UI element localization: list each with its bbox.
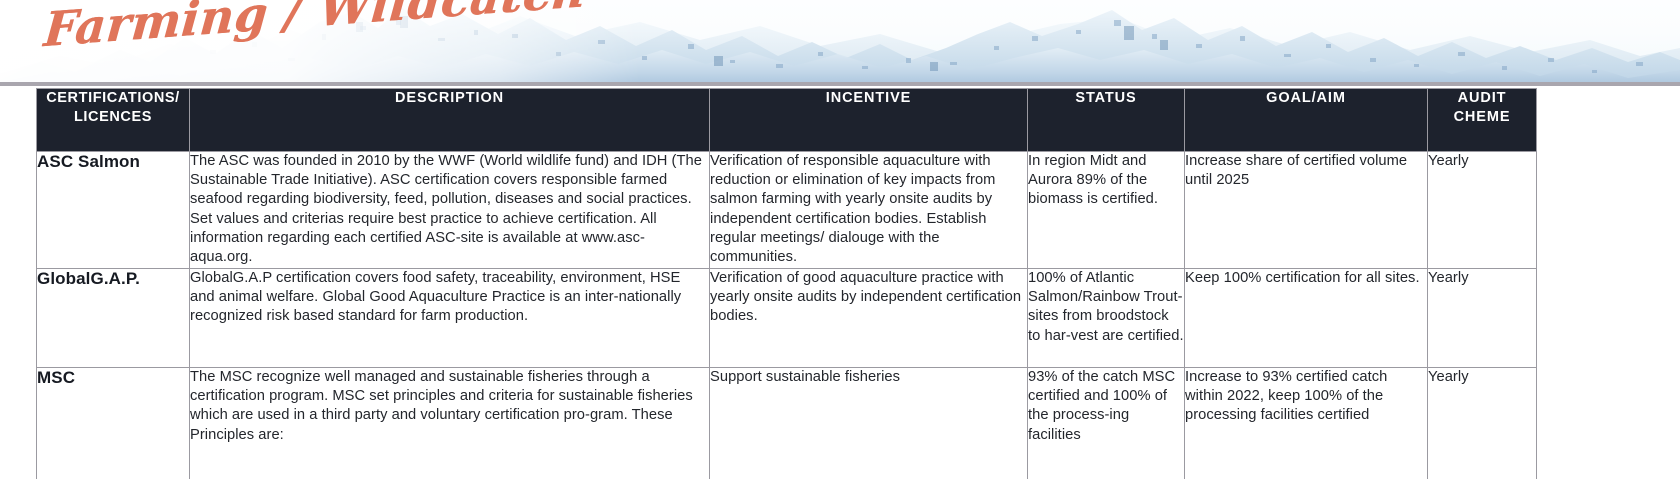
certifications-table: CERTIFICATIONS/ LICENCES DESCRIPTION INC… bbox=[36, 88, 1537, 479]
row-incentive: Verification of good aquaculture practic… bbox=[710, 269, 1028, 368]
table-row: MSC The MSC recognize well managed and s… bbox=[37, 368, 1537, 479]
page-root: Farming / Wildcatch CERTIFICATIONS/ LICE… bbox=[0, 0, 1680, 479]
row-goal-aim: Increase to 93% certified catch within 2… bbox=[1185, 368, 1428, 479]
row-incentive: Support sustainable fisheries bbox=[710, 368, 1028, 479]
row-status: 100% of Atlantic Salmon/Rainbow Trout-si… bbox=[1028, 269, 1185, 368]
banner-bottom-rule bbox=[0, 82, 1680, 86]
row-audit-scheme: Yearly bbox=[1428, 269, 1537, 368]
row-status: In region Midt and Aurora 89% of the bio… bbox=[1028, 152, 1185, 269]
row-certification-name: MSC bbox=[37, 368, 190, 479]
table-body: ASC Salmon The ASC was founded in 2010 b… bbox=[37, 152, 1537, 479]
column-header-status[interactable]: STATUS bbox=[1028, 89, 1185, 152]
table-row: GlobalG.A.P. GlobalG.A.P certification c… bbox=[37, 269, 1537, 368]
row-audit-scheme: Yearly bbox=[1428, 152, 1537, 269]
table-row: ASC Salmon The ASC was founded in 2010 b… bbox=[37, 152, 1537, 269]
column-header-goal-aim[interactable]: GOAL/AIM bbox=[1185, 89, 1428, 152]
column-header-certifications[interactable]: CERTIFICATIONS/ LICENCES bbox=[37, 89, 190, 152]
row-goal-aim: Increase share of certified volume until… bbox=[1185, 152, 1428, 269]
row-goal-aim: Keep 100% certification for all sites. bbox=[1185, 269, 1428, 368]
certifications-table-wrapper: CERTIFICATIONS/ LICENCES DESCRIPTION INC… bbox=[36, 88, 1536, 479]
row-certification-name: GlobalG.A.P. bbox=[37, 269, 190, 368]
row-description: GlobalG.A.P certification covers food sa… bbox=[190, 269, 710, 368]
row-description: The ASC was founded in 2010 by the WWF (… bbox=[190, 152, 710, 269]
row-incentive: Verification of responsible aquaculture … bbox=[710, 152, 1028, 269]
column-header-audit-scheme[interactable]: AUDIT CHEME bbox=[1428, 89, 1537, 152]
table-header-row: CERTIFICATIONS/ LICENCES DESCRIPTION INC… bbox=[37, 89, 1537, 152]
row-audit-scheme: Yearly bbox=[1428, 368, 1537, 479]
column-header-incentive[interactable]: INCENTIVE bbox=[710, 89, 1028, 152]
page-banner: Farming / Wildcatch bbox=[0, 0, 1680, 86]
row-status: 93% of the catch MSC certified and 100% … bbox=[1028, 368, 1185, 479]
row-description: The MSC recognize well managed and susta… bbox=[190, 368, 710, 479]
table-header: CERTIFICATIONS/ LICENCES DESCRIPTION INC… bbox=[37, 89, 1537, 152]
row-certification-name: ASC Salmon bbox=[37, 152, 190, 269]
column-header-description[interactable]: DESCRIPTION bbox=[190, 89, 710, 152]
